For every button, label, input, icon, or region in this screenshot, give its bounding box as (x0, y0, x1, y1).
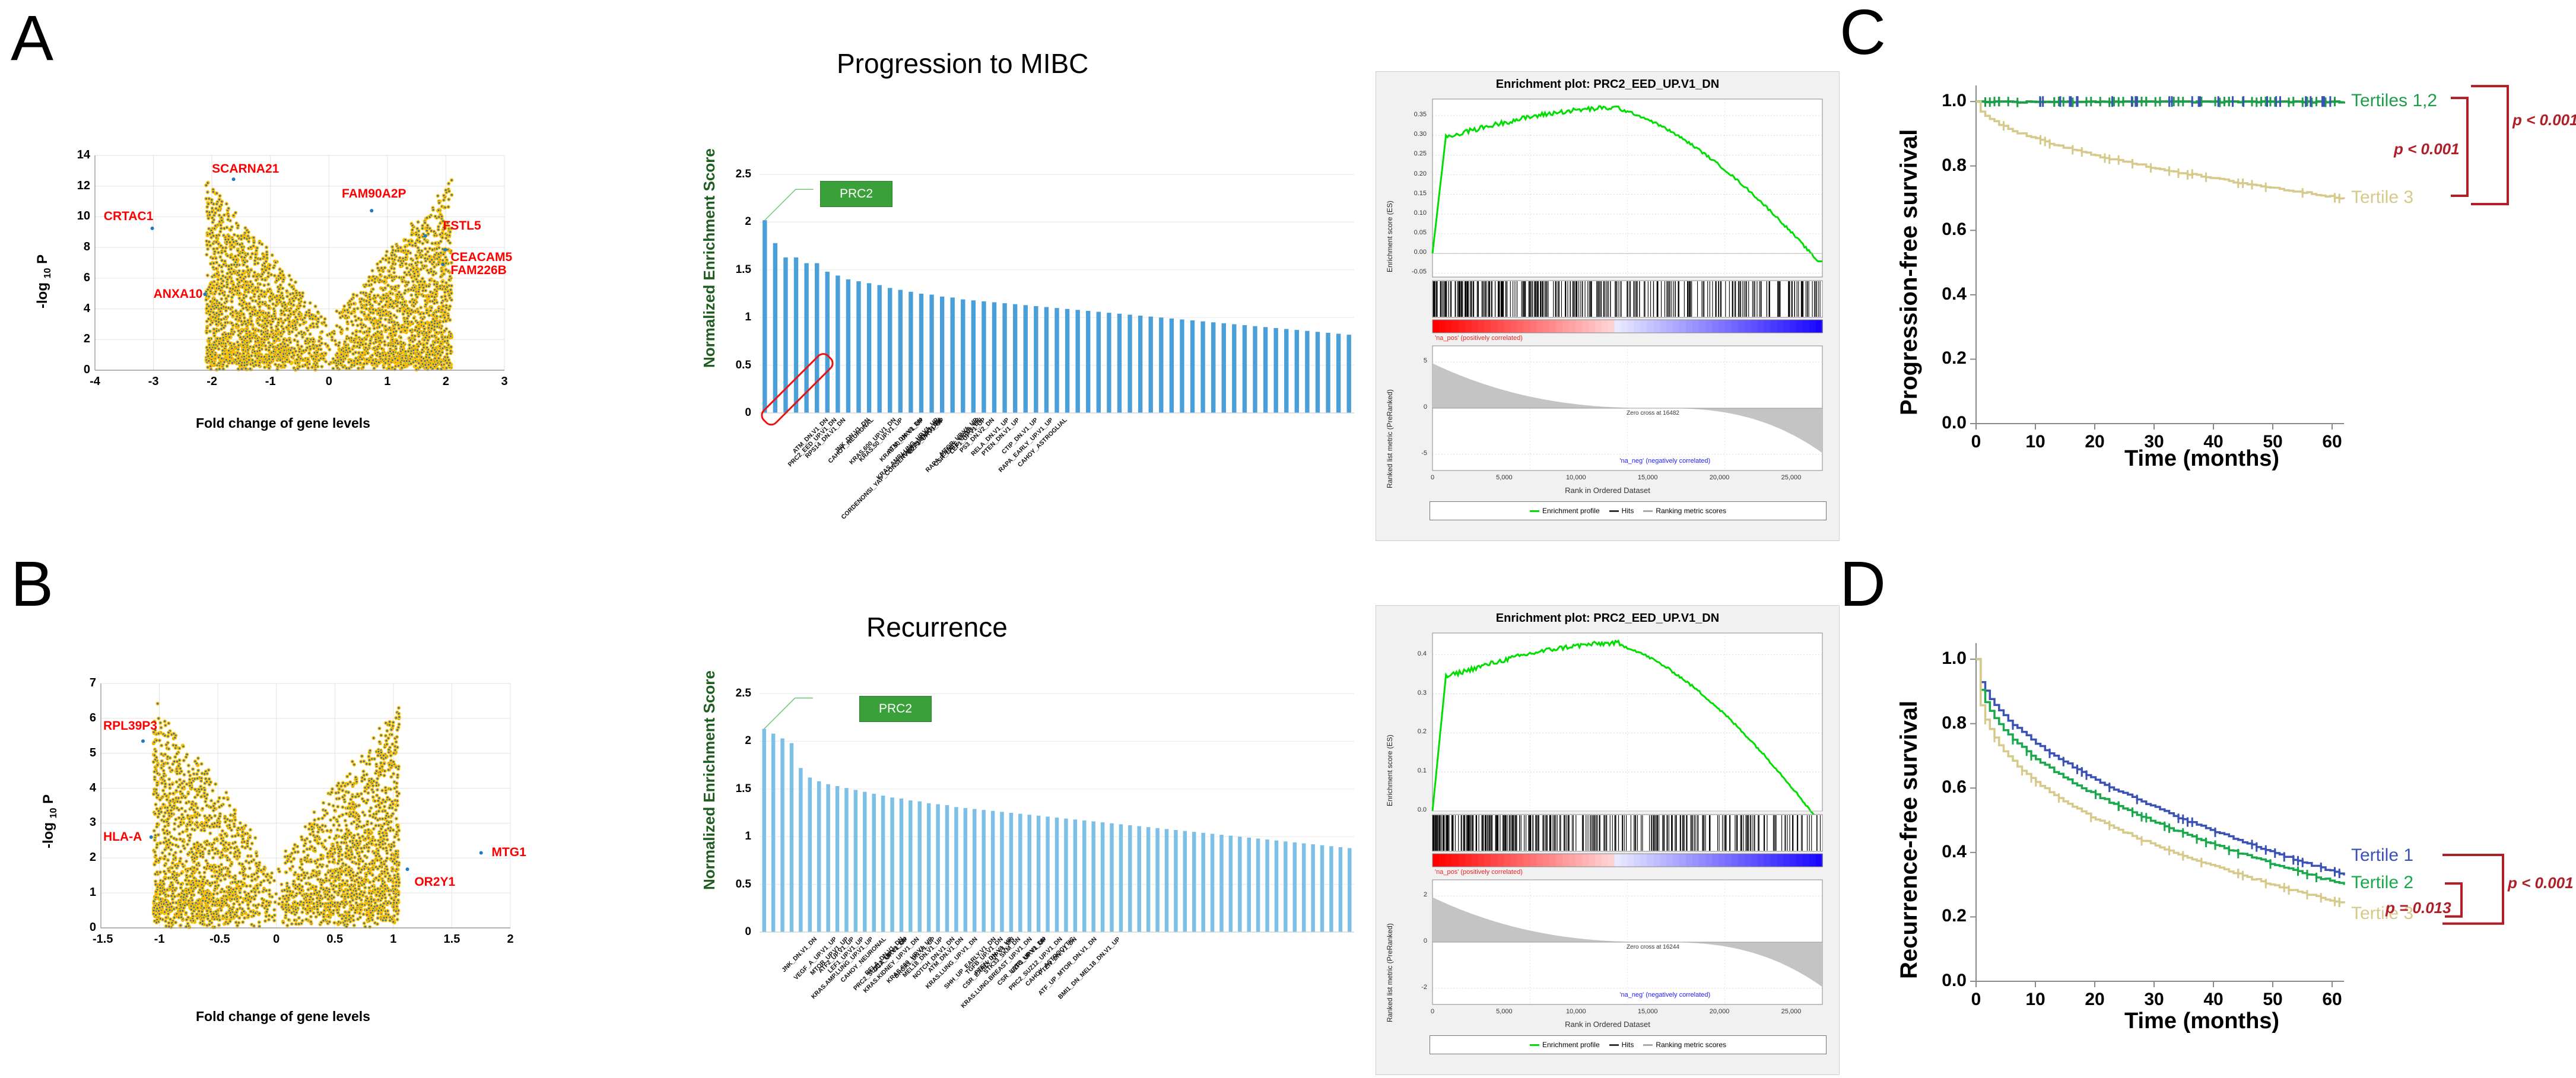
y-tick-label: 12 (72, 179, 90, 193)
y-tick-label: 14 (72, 148, 90, 162)
y-tick-label: 6 (72, 271, 90, 285)
gene-label: SCARNA21 (212, 162, 279, 176)
es-tick: 0.4 (1394, 650, 1427, 657)
gsea-x-tick: 10,000 (1561, 474, 1592, 481)
nes-y-tick: 1 (718, 311, 751, 324)
y-tick-label: 6 (78, 711, 96, 725)
legend-swatch (1643, 510, 1653, 512)
gene-label: FAM90A2P (342, 187, 406, 201)
panel-b-letter: B (11, 552, 53, 616)
y-tick-label: 5 (78, 746, 96, 760)
ylabel-main-a: -log (34, 282, 50, 309)
nes-y-tick: 2.5 (718, 168, 751, 181)
y-tick-label: 1 (78, 886, 96, 899)
ylabel-main-b: -log (40, 822, 56, 848)
km-group-label: Tertile 2 (2351, 873, 2413, 893)
y-tick-label: 8 (72, 240, 90, 254)
es-tick: 0.3 (1394, 689, 1427, 697)
legend-label: Enrichment profile (1542, 1041, 1600, 1049)
gsea-title: Enrichment plot: PRC2_EED_UP.V1_DN (1376, 612, 1839, 625)
gsea-es-ylabel: Enrichment score (ES) (1386, 201, 1394, 272)
bar-progression-title: Progression to MIBC (837, 47, 1088, 80)
volcano-b-ylabel: -log 10 P (40, 848, 94, 867)
gsea-x-tick: 25,000 (1775, 474, 1806, 481)
rank-tick: 0 (1402, 403, 1427, 411)
y-tick-label: 0 (78, 921, 96, 934)
volcano-plot-b: -1.5-1-0.500.511.5201234567RPL39P3HLA-AM… (65, 676, 516, 955)
nes-y-tick: 2 (718, 734, 751, 748)
gsea-pos-label: 'na_pos' (positively correlated) (1435, 869, 1523, 876)
volcano-a-ylabel: -log 10 P (34, 309, 88, 327)
y-tick-label: 10 (72, 209, 90, 223)
x-tick-label: 3 (496, 375, 513, 389)
gsea-title: Enrichment plot: PRC2_EED_UP.V1_DN (1376, 78, 1839, 91)
x-tick-label: 2 (502, 933, 519, 946)
panel-d-letter: D (1840, 552, 1886, 616)
km-group-label: Tertile 3 (2351, 187, 2413, 208)
legend-swatch (1530, 1044, 1539, 1046)
km-x-tick: 60 (2314, 990, 2350, 1010)
gsea-pos-label: 'na_pos' (positively correlated) (1435, 335, 1523, 342)
volcano-plot-a: -4-3-2-1012302468101214SCARNA21CRTAC1ANX… (59, 148, 510, 398)
x-tick-label: 1 (385, 933, 402, 946)
gsea-x-tick: 15,000 (1632, 1008, 1663, 1015)
km-plot-recurrence-free: 0.00.20.40.60.81.00102030405060Tertile 1… (1905, 629, 2564, 1020)
pvalue-label: p < 0.001 (2508, 874, 2574, 892)
x-tick-label: -3 (145, 375, 162, 389)
volcano-a-xlabel: Fold change of gene levels (196, 415, 370, 431)
y-tick-label: 7 (78, 676, 96, 690)
gene-label: ANXA10 (154, 287, 203, 301)
prc2-callout-recurrence: PRC2 (859, 696, 932, 722)
km-d-ylabel: Recurrence-free survival (1896, 979, 2174, 1006)
legend-label: Ranking metric scores (1656, 1041, 1726, 1049)
gsea-rank-ylabel: Ranked list metric (PreRanked) (1386, 389, 1394, 488)
gene-label: CEACAM5 (450, 250, 512, 265)
legend-swatch (1609, 1044, 1619, 1046)
x-tick-label: 2 (437, 375, 454, 389)
rank-tick: 0 (1402, 937, 1427, 945)
ylabel-tail-a: P (34, 255, 50, 264)
legend-label: Ranking metric scores (1656, 507, 1726, 515)
gsea-x-tick: 15,000 (1632, 474, 1663, 481)
pvalue-label: p = 0.013 (2386, 899, 2451, 917)
gsea-plot-progression: Enrichment plot: PRC2_EED_UP.V1_DN0.350.… (1376, 71, 1840, 541)
x-tick-label: -0.5 (209, 933, 226, 946)
gene-set-label: KRAS.600_UP.V1_DN (848, 416, 897, 466)
nes-y-tick: 0 (718, 926, 751, 939)
bar-chart-recurrence: 00.511.522.5JNK_DN.V1_DNVEGF_A_UP.V1_UPK… (718, 685, 1359, 940)
gene-label: FSTL5 (443, 219, 481, 233)
gsea-x-tick: 20,000 (1704, 474, 1735, 481)
gsea-x-tick: 10,000 (1561, 1008, 1592, 1015)
ylabel-sub-a: 10 (43, 268, 53, 279)
gene-label: CRTAC1 (104, 209, 154, 224)
gene-label: RPL39P3 (103, 719, 157, 733)
km-group-label: Tertile 1 (2351, 845, 2413, 866)
nes-y-tick: 1 (718, 830, 751, 843)
rank-tick: -5 (1402, 450, 1427, 457)
legend-swatch (1609, 510, 1619, 512)
es-tick: 0.35 (1394, 111, 1427, 118)
km-c-ylabel: Progression-free survival (1896, 415, 2182, 442)
gsea-legend: Enrichment profileHitsRanking metric sco… (1430, 501, 1827, 520)
gene-label: HLA-A (103, 830, 142, 844)
gsea-neg-label: 'na_neg' (negatively correlated) (1619, 457, 1710, 465)
legend-label: Hits (1622, 1041, 1634, 1049)
bar-chart-progression: 00.511.522.5PRC2_EED_UP.V1_DNATM_DN.V1_D… (718, 166, 1359, 421)
panel-a-letter: A (11, 6, 53, 70)
nes-y-tick: 1.5 (718, 783, 751, 796)
legend-label: Enrichment profile (1542, 507, 1600, 515)
pvalue-label: p < 0.001 (2513, 111, 2576, 129)
y-tick-label: 0 (72, 363, 90, 377)
y-tick-label: 4 (78, 781, 96, 795)
y-tick-label: 3 (78, 816, 96, 829)
prc2-callout-progression: PRC2 (820, 181, 892, 207)
pvalue-label: p < 0.001 (2394, 140, 2460, 158)
legend-swatch (1530, 510, 1539, 512)
es-tick: 0.00 (1394, 249, 1427, 256)
gsea-x-tick: 20,000 (1704, 1008, 1735, 1015)
es-tick: 0.0 (1394, 806, 1427, 813)
gsea-x-tick: 25,000 (1775, 1008, 1806, 1015)
es-tick: 0.1 (1394, 767, 1427, 774)
km-x-tick: 40 (2196, 990, 2231, 1010)
gsea-x-tick: 0 (1417, 1008, 1448, 1015)
x-tick-label: -1.5 (93, 933, 109, 946)
gsea-x-tick: 0 (1417, 474, 1448, 481)
es-tick: 0.30 (1394, 131, 1427, 138)
zero-cross-label: Zero cross at 16482 (1627, 410, 1679, 416)
ylabel-sub-b: 10 (49, 808, 59, 819)
rank-tick: 5 (1402, 357, 1427, 364)
km-x-tick: 50 (2255, 990, 2291, 1010)
x-tick-label: 1 (379, 375, 396, 389)
y-tick-label: 2 (72, 332, 90, 346)
km-x-tick: 60 (2314, 432, 2350, 452)
nes-y-tick: 0.5 (718, 878, 751, 891)
es-tick: 0.05 (1394, 229, 1427, 236)
km-group-label: Tertiles 1,2 (2351, 91, 2437, 111)
gsea-xlabel: Rank in Ordered Dataset (1376, 1020, 1839, 1029)
legend-label: Hits (1622, 507, 1634, 515)
x-tick-label: -4 (87, 375, 103, 389)
km-y-tick: 1.0 (1905, 91, 1967, 111)
gsea-rank-ylabel: Ranked list metric (PreRanked) (1386, 923, 1394, 1022)
nes-y-tick: 0.5 (718, 359, 751, 372)
panel-c-letter: C (1840, 0, 1886, 64)
bar-recurrence-title: Recurrence (866, 611, 1008, 643)
es-tick: 0.25 (1394, 150, 1427, 157)
es-tick: -0.05 (1394, 268, 1427, 275)
km-plot-progression-free: 0.00.20.40.60.81.00102030405060Tertiles … (1905, 71, 2564, 463)
gsea-x-tick: 5,000 (1489, 1008, 1520, 1015)
es-tick: 0.15 (1394, 190, 1427, 197)
km-d-xlabel: Time (months) (2124, 1009, 2279, 1034)
gene-label: FAM226B (450, 263, 507, 278)
km-c-xlabel: Time (months) (2124, 446, 2279, 472)
volcano-b-xlabel: Fold change of gene levels (196, 1009, 370, 1025)
gsea-xlabel: Rank in Ordered Dataset (1376, 486, 1839, 495)
x-tick-label: 1.5 (443, 933, 460, 946)
ylabel-tail-b: P (40, 794, 56, 804)
nes-y-tick: 2.5 (718, 687, 751, 700)
x-tick-label: 0 (268, 933, 285, 946)
x-tick-label: -1 (262, 375, 279, 389)
km-y-tick: 1.0 (1905, 648, 1967, 669)
es-tick: 0.2 (1394, 728, 1427, 735)
legend-swatch (1643, 1044, 1653, 1046)
es-tick: 0.20 (1394, 170, 1427, 177)
gsea-es-ylabel: Enrichment score (ES) (1386, 734, 1394, 806)
es-tick: 0.10 (1394, 209, 1427, 217)
x-tick-label: -2 (204, 375, 220, 389)
gene-label: MTG1 (491, 845, 526, 860)
gsea-legend: Enrichment profileHitsRanking metric sco… (1430, 1035, 1827, 1054)
x-tick-label: 0.5 (326, 933, 343, 946)
rank-tick: -2 (1402, 984, 1427, 991)
gsea-neg-label: 'na_neg' (negatively correlated) (1619, 991, 1710, 998)
x-tick-label: 0 (320, 375, 337, 389)
nes-y-tick: 1.5 (718, 263, 751, 276)
gsea-plot-recurrence: Enrichment plot: PRC2_EED_UP.V1_DN0.40.3… (1376, 605, 1840, 1075)
zero-cross-label: Zero cross at 16244 (1627, 944, 1679, 950)
gene-label: OR2Y1 (414, 875, 455, 889)
gsea-x-tick: 5,000 (1489, 474, 1520, 481)
rank-tick: 2 (1402, 891, 1427, 898)
nes-y-tick: 0 (718, 406, 751, 419)
nes-y-tick: 2 (718, 215, 751, 228)
x-tick-label: -1 (151, 933, 168, 946)
